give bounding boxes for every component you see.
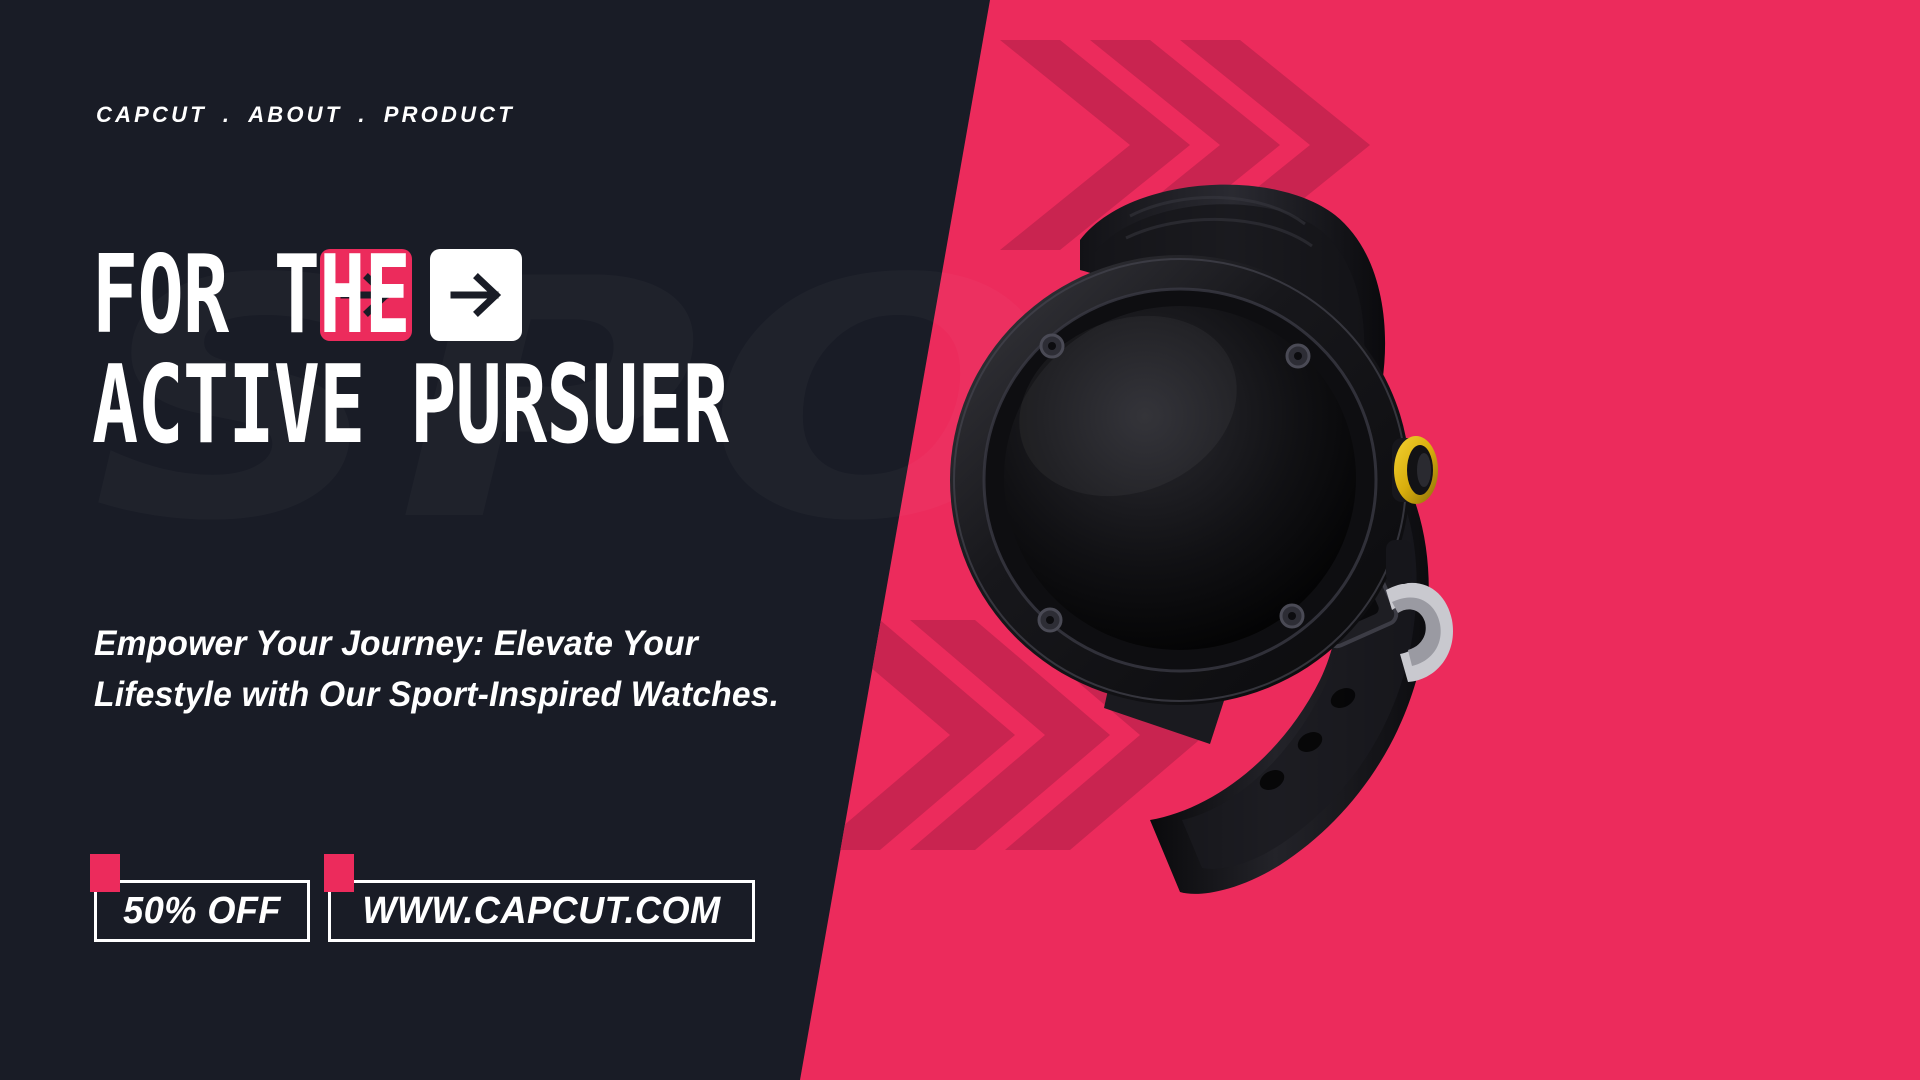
- badge-corner-accent: [90, 854, 120, 892]
- nav-item-capcut[interactable]: CAPCUT: [96, 102, 207, 128]
- nav-item-product[interactable]: PRODUCT: [384, 102, 515, 128]
- badge-website-box: WWW.CAPCUT.COM: [328, 880, 755, 942]
- badge-discount-label: 50% OFF: [123, 890, 281, 933]
- badge-website[interactable]: WWW.CAPCUT.COM: [328, 880, 755, 942]
- badge-discount[interactable]: 50% OFF: [94, 880, 310, 942]
- nav-separator: .: [207, 102, 248, 128]
- badge-website-label: WWW.CAPCUT.COM: [363, 890, 721, 933]
- headline-block: FOR THE: [92, 248, 992, 452]
- top-nav: CAPCUT . ABOUT . PRODUCT: [96, 102, 515, 128]
- banner-root: SPO: [0, 0, 1920, 1080]
- arrow-right-icon: [448, 267, 504, 323]
- badge-discount-box: 50% OFF: [94, 880, 310, 942]
- badge-group: 50% OFF WWW.CAPCUT.COM: [94, 880, 755, 942]
- badge-corner-accent: [324, 854, 354, 892]
- subtitle-text: Empower Your Journey: Elevate Your Lifes…: [94, 618, 785, 720]
- product-image-smartwatch: [880, 120, 1600, 920]
- headline-line-2: ACTIVE PURSUER: [92, 352, 812, 457]
- nav-item-about[interactable]: ABOUT: [248, 102, 342, 128]
- headline-line-1: FOR THE: [92, 242, 410, 347]
- watch-crown: [1392, 436, 1438, 504]
- arrow-button-white[interactable]: [430, 249, 522, 341]
- headline-row-1: FOR THE: [92, 248, 992, 342]
- nav-separator: .: [342, 102, 383, 128]
